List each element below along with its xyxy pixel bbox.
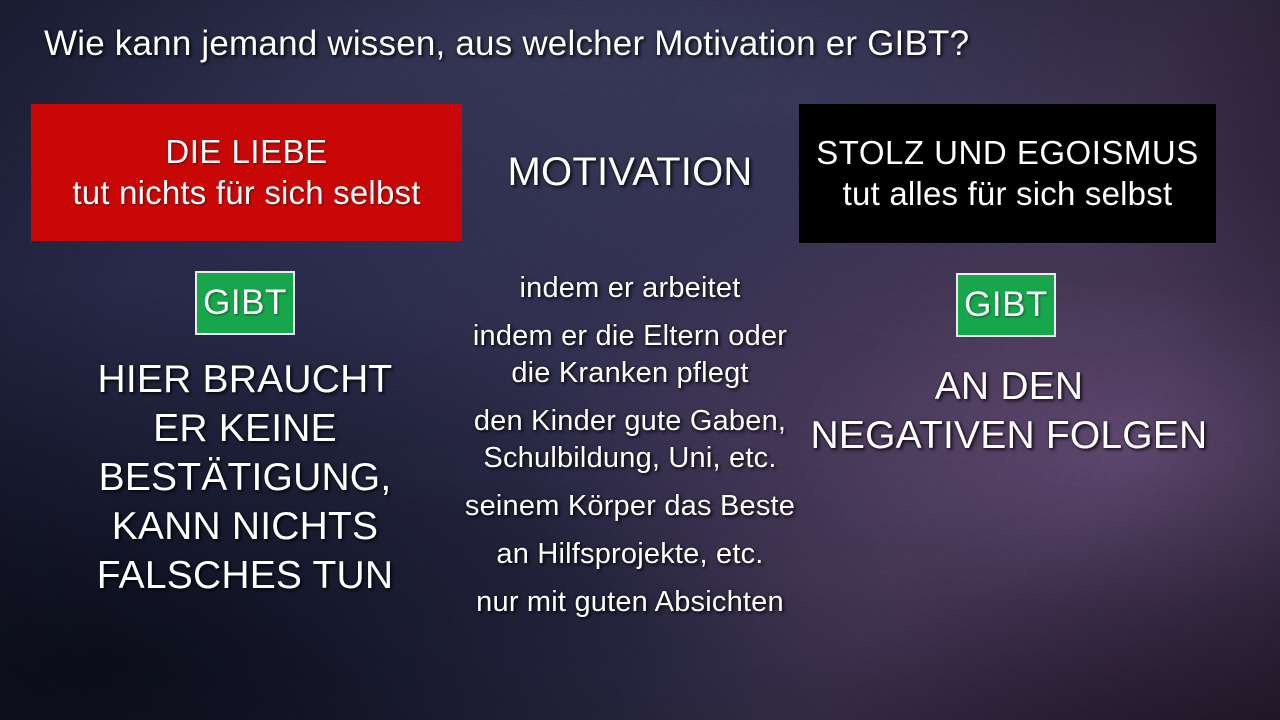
pride-header-box: STOLZ UND EGOISMUS tut alles für sich se… [799,104,1216,243]
gibt-badge-right: GIBT [956,273,1056,337]
text-line: KANN NICHTS [60,502,430,551]
list-item: an Hilfsprojekte, etc. [420,536,840,573]
text-line: nur mit guten Absichten [420,584,840,621]
pride-box-subtitle: tut alles für sich selbst [843,173,1173,214]
text-line: NEGATIVEN FOLGEN [790,411,1228,460]
list-item: indem er arbeitet [420,270,840,307]
slide-canvas: Wie kann jemand wissen, aus welcher Moti… [0,0,1280,720]
love-box-subtitle: tut nichts für sich selbst [72,172,420,213]
list-item: nur mit guten Absichten [420,584,840,621]
slide-title: Wie kann jemand wissen, aus welcher Moti… [44,22,1234,66]
gibt-badge-left: GIBT [195,271,295,335]
list-item: indem er die Eltern oderdie Kranken pfle… [420,318,840,392]
text-line: den Kinder gute Gaben, [420,403,840,440]
motivation-examples-list: indem er arbeitetindem er die Eltern ode… [420,270,840,621]
text-line: seinem Körper das Beste [420,488,840,525]
love-box-title: DIE LIEBE [165,132,327,172]
text-line: an Hilfsprojekte, etc. [420,536,840,573]
love-header-box: DIE LIEBE tut nichts für sich selbst [31,104,462,241]
text-line: FALSCHES TUN [60,551,430,600]
right-column-text: AN DENNEGATIVEN FOLGEN [790,362,1228,460]
text-line: ER KEINE [60,404,430,453]
text-line: die Kranken pflegt [420,355,840,392]
text-line: BESTÄTIGUNG, [60,453,430,502]
list-item: seinem Körper das Beste [420,488,840,525]
left-column-text: HIER BRAUCHTER KEINEBESTÄTIGUNG,KANN NIC… [60,355,430,600]
text-line: indem er arbeitet [420,270,840,307]
list-item: den Kinder gute Gaben,Schulbildung, Uni,… [420,403,840,477]
text-line: AN DEN [790,362,1228,411]
motivation-heading: MOTIVATION [420,146,840,198]
text-line: Schulbildung, Uni, etc. [420,440,840,477]
text-line: HIER BRAUCHT [60,355,430,404]
pride-box-title: STOLZ UND EGOISMUS [816,133,1198,173]
text-line: indem er die Eltern oder [420,318,840,355]
